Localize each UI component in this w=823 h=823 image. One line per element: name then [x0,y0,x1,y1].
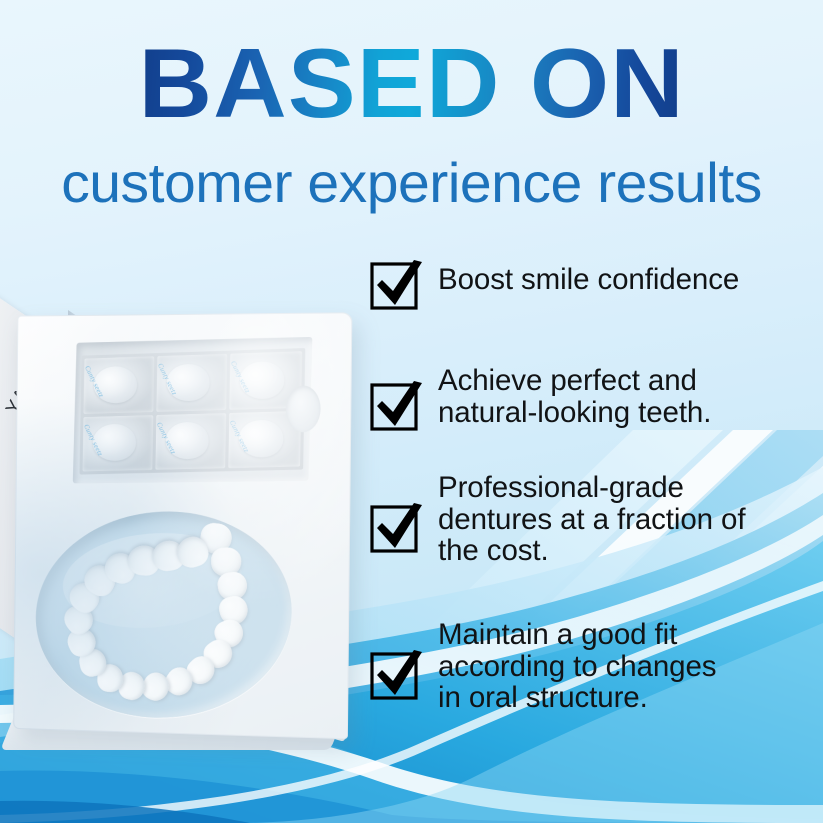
line: the cost. [438,534,549,567]
list-item: Maintain a good fit according to changes… [368,648,816,714]
line: Achieve perfect and [438,364,697,397]
checkbox-checked-icon [368,501,424,555]
box-body: Cunty seetz Cunty seetz Cunty seetz Cunt… [13,312,352,739]
checkbox-checked-icon [368,379,424,433]
page-title: BASED ON [138,34,684,134]
promo-poster: YAGOO™ Cunty seetz Cunty seetz Cunty see… [0,0,823,823]
blister-cell-text: Cunty seetz [83,364,105,399]
blister-cell: Cunty seetz [155,412,227,469]
list-item: Professional-grade dentures at a fractio… [368,501,816,567]
list-item-label: Achieve perfect and natural-looking teet… [438,365,711,428]
thumb-notch [286,386,321,433]
list-item-label: Boost smile confidence [438,258,739,296]
page-subtitle: customer experience results [0,150,823,215]
blister-cell: Cunty seetz [83,356,154,413]
product-photo: YAGOO™ Cunty seetz Cunty seetz Cunty see… [0,276,370,746]
list-item: Achieve perfect and natural-looking teet… [368,379,816,433]
blister-cell-text: Cunty seetz [230,359,253,394]
blister-cell-text: Cunty seetz [229,418,252,453]
blister-recess: Cunty seetz Cunty seetz Cunty seetz Cunt… [73,337,313,483]
line: Maintain a good fit [438,618,677,651]
line: Professional-grade [438,471,684,504]
line: Boost smile confidence [438,263,739,296]
list-item-label: Maintain a good fit according to changes… [438,618,716,714]
blister-pack: Cunty seetz Cunty seetz Cunty seetz Cunt… [79,348,305,475]
list-item-label: Professional-grade dentures at a fractio… [438,471,745,567]
line: according to changes [438,650,716,683]
headline-block: BASED ON [0,34,823,134]
checkbox-checked-icon [368,258,424,312]
checkbox-checked-icon [368,648,424,702]
blister-cell-text: Cunty seetz [155,420,177,455]
blister-cell-text: Cunty seetz [156,362,178,397]
blister-cell: Cunty seetz [82,415,153,472]
line: dentures at a fraction of [438,503,745,536]
blister-cell-text: Cunty seetz [82,422,104,457]
denture-arch [50,517,279,717]
list-item: Boost smile confidence [368,258,816,312]
line: in oral structure. [438,681,648,714]
line: natural-looking teeth. [438,396,711,429]
blister-cell: Cunty seetz [156,354,228,412]
